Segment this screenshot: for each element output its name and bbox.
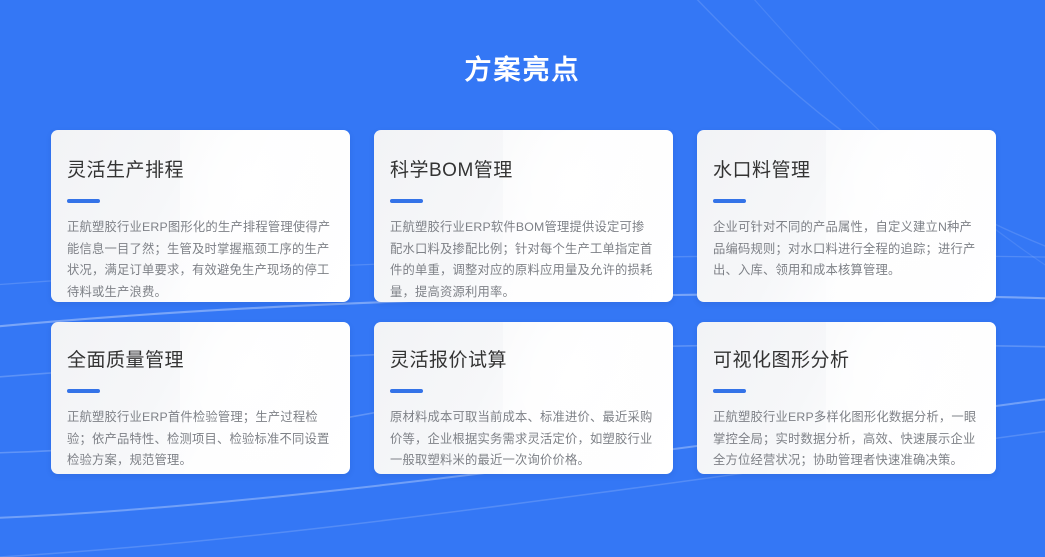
highlight-card[interactable]: 全面质量管理 正航塑胶行业ERP首件检验管理；生产过程检验；依产品特性、检测项目… [51, 322, 350, 474]
page-title: 方案亮点 [0, 52, 1045, 88]
card-body: 正航塑胶行业ERP图形化的生产排程管理使得产能信息一目了然；生管及时掌握瓶颈工序… [67, 217, 333, 302]
highlight-card[interactable]: 灵活生产排程 正航塑胶行业ERP图形化的生产排程管理使得产能信息一目了然；生管及… [51, 130, 350, 302]
card-body: 正航塑胶行业ERP多样化图形化数据分析，一眼掌控全局；实时数据分析，高效、快速展… [713, 407, 979, 472]
highlight-card[interactable]: 可视化图形分析 正航塑胶行业ERP多样化图形化数据分析，一眼掌控全局；实时数据分… [697, 322, 996, 474]
card-title: 灵活报价试算 [390, 348, 651, 374]
card-title: 水口料管理 [713, 158, 974, 184]
accent-underline [713, 389, 746, 393]
accent-underline [67, 389, 100, 393]
accent-underline [67, 199, 100, 203]
card-body: 企业可针对不同的产品属性，自定义建立N种产品编码规则；对水口料进行全程的追踪；进… [713, 217, 979, 282]
highlights-grid: 灵活生产排程 正航塑胶行业ERP图形化的生产排程管理使得产能信息一目了然；生管及… [51, 130, 997, 474]
card-body: 原材料成本可取当前成本、标准进价、最近采购价等，企业根据实务需求灵活定价，如塑胶… [390, 407, 656, 472]
card-title: 可视化图形分析 [713, 348, 974, 374]
highlight-card[interactable]: 科学BOM管理 正航塑胶行业ERP软件BOM管理提供设定可掺配水口料及掺配比例；… [374, 130, 673, 302]
card-title: 灵活生产排程 [67, 158, 328, 184]
highlight-card[interactable]: 水口料管理 企业可针对不同的产品属性，自定义建立N种产品编码规则；对水口料进行全… [697, 130, 996, 302]
highlight-card[interactable]: 灵活报价试算 原材料成本可取当前成本、标准进价、最近采购价等，企业根据实务需求灵… [374, 322, 673, 474]
accent-underline [713, 199, 746, 203]
card-body: 正航塑胶行业ERP首件检验管理；生产过程检验；依产品特性、检测项目、检验标准不同… [67, 407, 333, 472]
promo-section: 方案亮点 灵活生产排程 正航塑胶行业ERP图形化的生产排程管理使得产能信息一目了… [0, 0, 1045, 557]
accent-underline [390, 389, 423, 393]
card-body: 正航塑胶行业ERP软件BOM管理提供设定可掺配水口料及掺配比例；针对每个生产工单… [390, 217, 656, 302]
accent-underline [390, 199, 423, 203]
card-title: 全面质量管理 [67, 348, 328, 374]
card-title: 科学BOM管理 [390, 158, 651, 184]
